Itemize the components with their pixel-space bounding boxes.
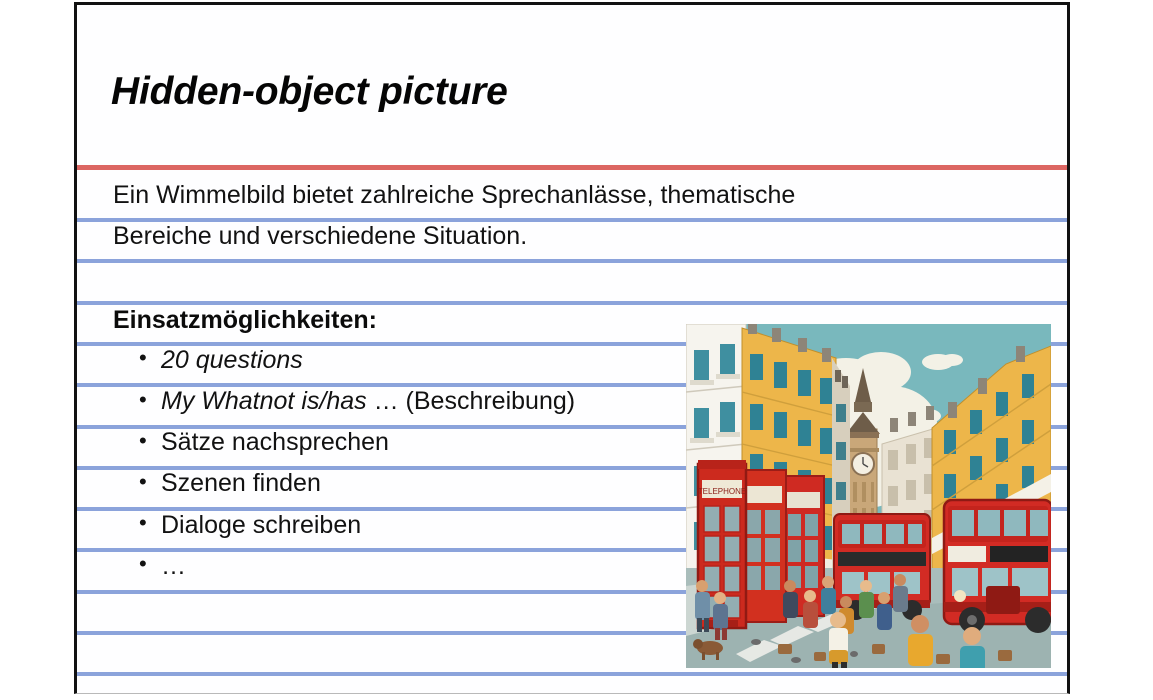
blank-line (111, 257, 1046, 298)
bullet-dot-icon: • (139, 512, 161, 534)
rule-line (77, 672, 1067, 676)
list-item-label: Dialoge schreiben (161, 504, 361, 547)
page-title: Hidden-object picture (111, 70, 508, 114)
accent-rule-red (77, 165, 1067, 170)
hidden-object-picture: TELEPHONE (686, 324, 1051, 668)
bullet-dot-icon: • (139, 553, 161, 575)
bullet-dot-icon: • (139, 471, 161, 493)
list-item-label-italic: 20 questions (161, 346, 303, 374)
bullet-dot-icon: • (139, 389, 161, 411)
list-item-label: Sätze nachsprechen (161, 421, 389, 464)
intro-paragraph-line-1: Ein Wimmelbild bietet zahlreiche Sprecha… (111, 175, 1046, 216)
svg-text:TELEPHONE: TELEPHONE (698, 487, 746, 496)
bullet-dot-icon: • (139, 347, 161, 369)
slide-frame: Hidden-object picture Ein Wimmelbild bie… (74, 2, 1070, 694)
bullet-dot-icon: • (139, 430, 161, 452)
list-item-label: … (161, 545, 186, 588)
list-item-label-plain: … (Beschreibung) (374, 387, 575, 415)
intro-paragraph-line-2: Bereiche und verschiedene Situation. (111, 216, 1046, 257)
list-item-label-italic: My Whatnot is/has (161, 387, 367, 415)
list-item-label: Szenen finden (161, 462, 321, 505)
title-block: Hidden-object picture (111, 57, 871, 127)
